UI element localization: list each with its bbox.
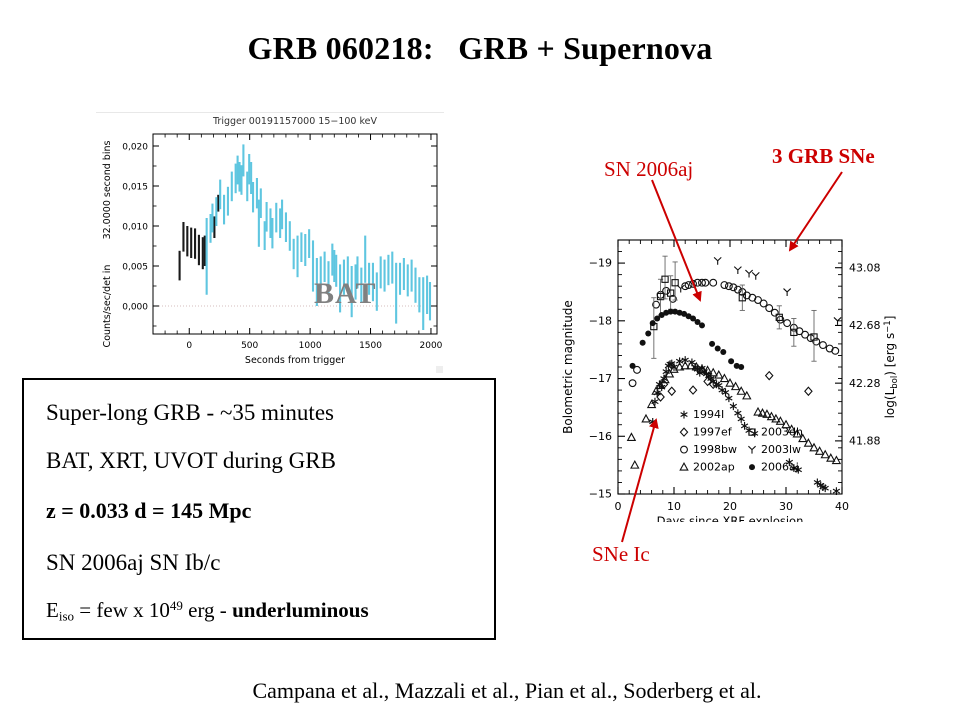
y-tick-label-right: 42.68 [849,319,881,332]
y-tick-label: 0,010 [122,222,148,232]
label-part: ) [erg s [883,333,897,376]
x-tick-label: 1000 [299,341,322,351]
marker-triangle [642,415,650,422]
y-tick-label: 0,015 [122,182,148,192]
marker-circle [832,347,839,354]
annotation-sne-ic: SNe Ic [592,542,650,567]
marker-diamond [766,372,773,380]
marker-tri-up [745,270,752,277]
marker-circle [725,283,732,290]
sn-bolometric-panel: −19−18−17−16−1543.0842.6842.2841.8801020… [556,222,946,522]
marker-triangle [628,433,636,440]
legend-label: 1997ef [693,426,733,439]
y-tick-label-right: 42.28 [849,377,881,390]
y-tick-label-right: 43.08 [849,261,881,274]
x-tick-label: 10 [667,500,681,513]
legend-label: 2003lw [761,443,801,456]
y-tick-label-left: −15 [589,488,612,501]
fact-line-sn-type: SN 2006aj SN Ib/c [46,550,220,576]
page-title: GRB 060218: GRB + Supernova [0,30,960,67]
bat-y-axis-title-top: 32.0000 second bins [102,141,113,240]
marker-tri-up [714,257,721,264]
marker-filled-circle [720,349,726,355]
y-tick-label-right: 41.88 [849,434,881,447]
label-part: log(L [883,388,897,418]
x-tick-label: 0 [186,341,192,351]
sn-series-2003lw [677,257,841,324]
sn-y-axis-title-right: log(Lbol) [erg s−1] [883,316,900,419]
x-tick-label: 500 [241,341,258,351]
marker-triangle [631,461,639,468]
marker-tri-up [752,272,759,279]
marker-star [726,394,733,402]
sn-series-1994I [649,356,839,495]
sn-y-axis-title-right-text: log(Lbol) [erg s−1] [883,316,900,419]
marker-circle [710,279,717,286]
bat-x-axis-title: Seconds from trigger [245,355,345,366]
annotation-sn-2006aj: SN 2006aj [604,157,693,182]
marker-filled-circle [645,331,651,337]
fact-line-redshift-distance: z = 0.033 d = 145 Mpc [46,498,251,524]
x-tick-label: 30 [779,500,793,513]
marker-filled-circle [715,346,721,352]
marker-star [734,409,741,417]
marker-filled-circle [640,340,646,346]
attribution-text: Campana et al., Mazzali et al., Pian et … [252,678,761,704]
x-tick-label: 0 [615,500,622,513]
fact-line-duration: Super-long GRB - ~35 minutes [46,400,334,426]
marker-star [738,415,745,423]
marker-filled-circle [738,364,744,370]
attribution-line: Campana et al., Mazzali et al., Pian et … [0,678,960,704]
y-tick-label-left: −16 [589,430,612,443]
summary-fact-box: Super-long GRB - ~35 minutes BAT, XRT, U… [22,378,496,640]
y-tick-label: 0,000 [122,302,148,312]
bat-lightcurve-panel: Trigger 00191157000 15−100 keV0,0000,005… [96,112,444,374]
marker-tri-up [734,267,741,274]
marker-circle [820,342,827,349]
marker-circle [629,380,636,387]
legend-label: 1998bw [693,443,737,456]
marker-circle [690,280,697,287]
label-superscript: −1 [883,320,893,333]
marker-star [741,422,748,430]
fact-line-instruments: BAT, XRT, UVOT during GRB [46,448,336,474]
marker-filled-circle [709,341,715,347]
sn-bolometric-chart: −19−18−17−16−1543.0842.6842.2841.8801020… [556,222,946,522]
legend-label: 2002ap [693,461,735,474]
marker-diamond [689,386,696,394]
x-tick-label: 40 [835,500,849,513]
bat-watermark-label: BAT [314,277,376,311]
marker-filled-circle [728,358,734,364]
legend-label: 1994I [693,408,724,421]
y-tick-label-left: −18 [589,314,612,327]
marker-filled-circle [749,464,755,470]
fact-line-energy: Eiso = few x 1049 erg - underluminous [46,598,369,625]
x-tick-label: 20 [723,500,737,513]
y-tick-label-left: −19 [589,257,612,270]
marker-diamond [680,428,687,436]
marker-circle [771,309,778,316]
annotation-3-grb-sne: 3 GRB SNe [772,144,875,169]
panel-corner-marker [436,366,443,373]
y-tick-label: 0,005 [122,262,148,272]
bat-y-axis-title-bottom: Counts/sec/det in [102,265,113,348]
marker-circle [784,320,791,327]
marker-tri-up [748,446,755,453]
bat-lightcurve-chart: Trigger 00191157000 15−100 keV0,0000,005… [96,112,444,374]
x-tick-label: 1500 [359,341,382,351]
label-part: ] [883,316,897,321]
bat-chart-title: Trigger 00191157000 15−100 keV [212,116,377,127]
marker-circle [721,282,728,289]
legend-label: 2006aj [761,461,799,474]
marker-diamond [805,387,812,395]
marker-star [681,411,688,419]
marker-star [730,402,737,410]
marker-diamond [668,387,675,395]
legend-label: 2003dh [761,426,803,439]
marker-triangle [680,463,688,470]
label-subscript: bol [890,376,900,389]
sn-y-axis-title-left: Bolometric magnitude [561,300,575,434]
marker-filled-circle [650,320,656,326]
x-tick-label: 2000 [420,341,443,351]
marker-circle [681,446,688,453]
marker-filled-circle [699,322,705,328]
sn-x-axis-title: Days since XRF explosion [657,514,804,522]
y-tick-label: 0,020 [122,142,148,152]
marker-tri-up [784,289,791,296]
marker-filled-circle [630,363,636,369]
y-tick-label-left: −17 [589,372,612,385]
